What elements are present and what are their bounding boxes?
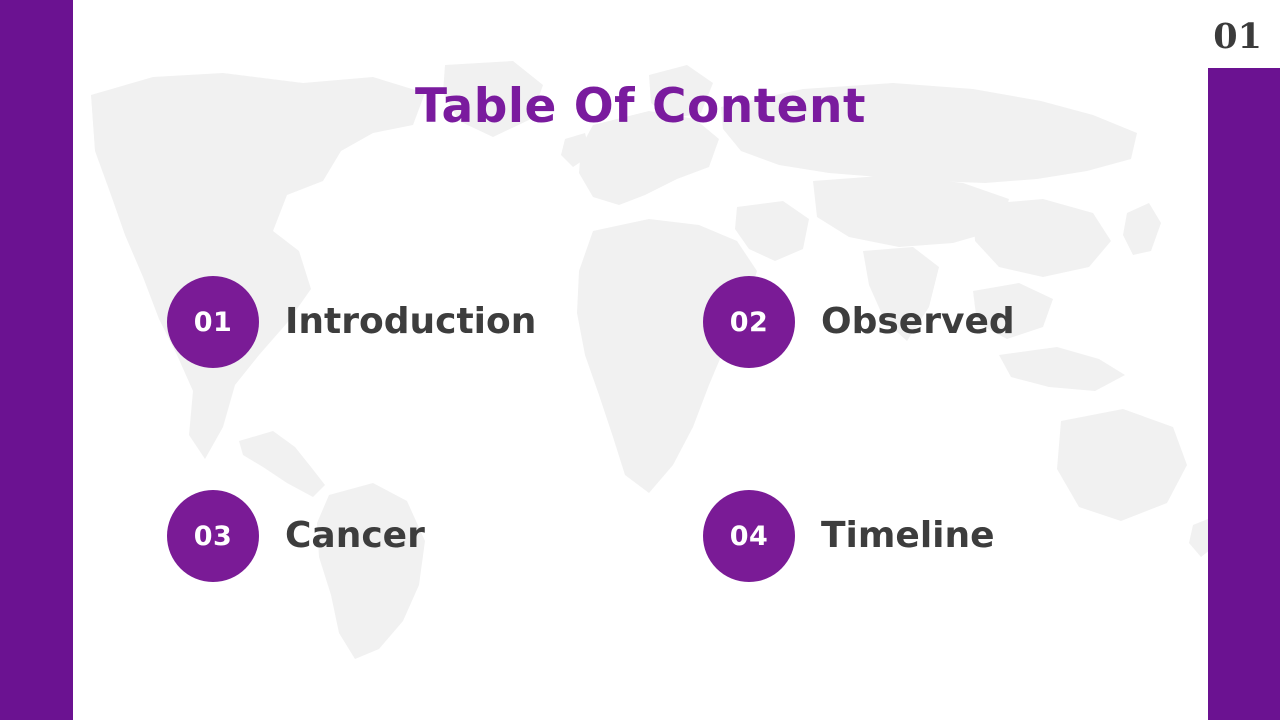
- toc-item-label: Observed: [821, 302, 1015, 342]
- toc-item-04[interactable]: 04 Timeline: [703, 490, 995, 582]
- toc-number-badge: 04: [703, 490, 795, 582]
- toc-item-02[interactable]: 02 Observed: [703, 276, 1015, 368]
- toc-item-01[interactable]: 01 Introduction: [167, 276, 536, 368]
- toc-number-badge: 02: [703, 276, 795, 368]
- toc-number-badge: 03: [167, 490, 259, 582]
- toc-item-label: Cancer: [285, 516, 425, 556]
- toc-item-03[interactable]: 03 Cancer: [167, 490, 425, 582]
- toc-item-label: Introduction: [285, 302, 536, 342]
- slide-canvas: 01 Table Of Content 01 Introduction 02 O…: [0, 0, 1280, 720]
- left-accent-bar: [0, 0, 73, 720]
- toc-number-badge: 01: [167, 276, 259, 368]
- right-accent-bar: [1208, 68, 1280, 720]
- page-number: 01: [1213, 19, 1262, 54]
- toc-item-label: Timeline: [821, 516, 995, 556]
- table-of-content-list: 01 Introduction 02 Observed 03 Cancer 04…: [167, 276, 1127, 626]
- page-title: Table Of Content: [73, 80, 1208, 134]
